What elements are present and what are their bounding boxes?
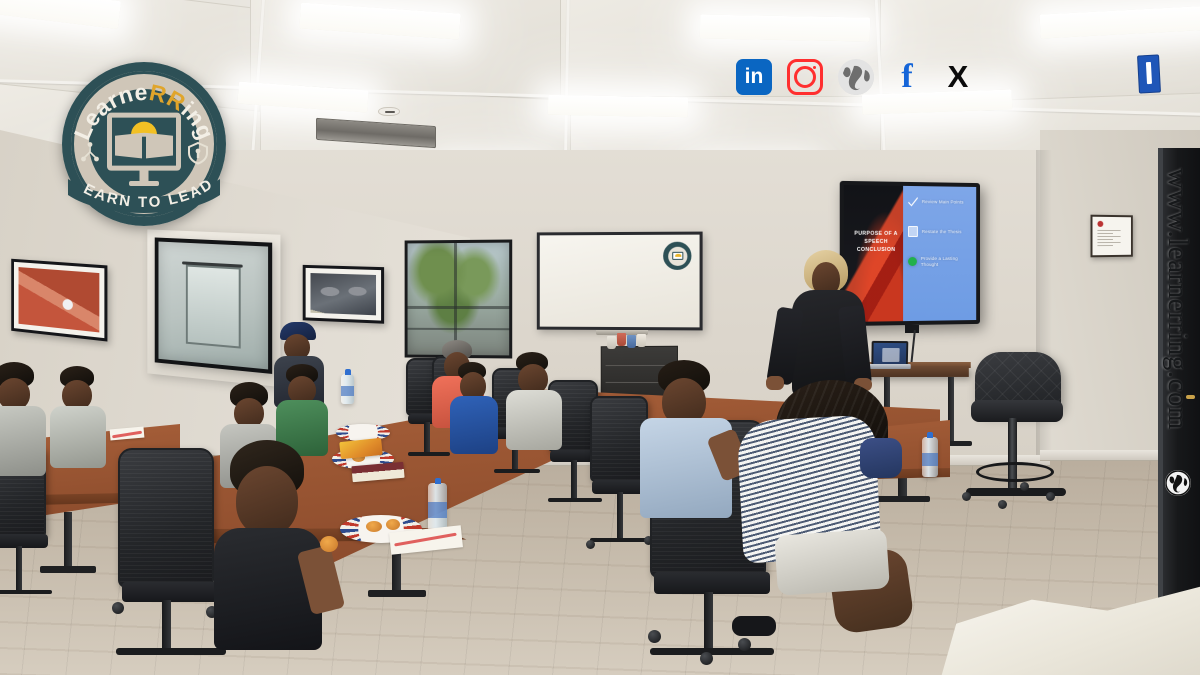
caster bbox=[1046, 492, 1055, 501]
monitor-icon bbox=[107, 113, 181, 171]
table-foot bbox=[40, 566, 96, 573]
caster bbox=[1020, 482, 1029, 491]
slide-bullet-text: Restate the Thesis bbox=[922, 229, 962, 235]
red-biplane-photo bbox=[19, 267, 100, 332]
x-glyph: X bbox=[948, 60, 969, 94]
table-foot bbox=[368, 590, 426, 597]
open-book-icon bbox=[144, 133, 173, 159]
website-url-watermark: www.learnerring.com bbox=[1161, 168, 1194, 430]
learnerring-logo: LearneRRing bbox=[62, 62, 226, 226]
caster bbox=[962, 492, 971, 501]
table-leg bbox=[64, 512, 72, 570]
whiteboard bbox=[537, 232, 703, 331]
slide-bullet: Provide a Lasting Thought bbox=[908, 256, 972, 267]
water-bottle bbox=[428, 483, 447, 531]
instagram-glyph bbox=[787, 59, 823, 95]
classroom-photo-scene: PURPOSE OF A SPEECH CONCLUSION Review Ma… bbox=[0, 0, 1200, 675]
cup bbox=[627, 335, 636, 348]
caster bbox=[586, 540, 595, 549]
facebook-glyph: f bbox=[901, 60, 912, 94]
laptop-keyboard bbox=[867, 364, 911, 369]
document-icon bbox=[908, 226, 918, 237]
osprey-aircraft-photo bbox=[311, 273, 377, 315]
paper-plate bbox=[336, 424, 390, 441]
cup bbox=[607, 336, 616, 349]
linkedin-glyph: in bbox=[736, 59, 772, 95]
caster bbox=[648, 630, 661, 643]
social-icons-bar: in f X bbox=[735, 58, 977, 96]
slide-content-panel: Review Main Points Restate the Thesis Pr… bbox=[903, 186, 976, 321]
caster bbox=[998, 500, 1007, 509]
smoke-detector-icon bbox=[378, 107, 400, 116]
open-book-icon bbox=[115, 133, 144, 159]
cup bbox=[637, 334, 646, 347]
certificate-seal-icon bbox=[1097, 221, 1103, 227]
slide-bullet: Review Main Points bbox=[908, 196, 972, 208]
slide-title: PURPOSE OF A SPEECH CONCLUSION bbox=[850, 230, 902, 255]
shield-icon bbox=[186, 141, 210, 165]
drafting-stool-seat bbox=[971, 400, 1063, 422]
network-node-icon bbox=[78, 141, 102, 165]
caster bbox=[112, 602, 124, 614]
framed-certificate bbox=[1091, 215, 1133, 258]
framed-photo-red-biplane bbox=[11, 259, 107, 342]
tv-mount bbox=[905, 325, 919, 333]
watermark-globe-icon bbox=[1165, 470, 1191, 496]
website-globe-icon[interactable] bbox=[837, 58, 875, 96]
ceiling-light-panel bbox=[548, 95, 688, 117]
water-bottle bbox=[341, 374, 354, 404]
food-item bbox=[366, 521, 382, 532]
caster bbox=[700, 652, 713, 665]
cup bbox=[617, 333, 626, 346]
food-item bbox=[386, 519, 400, 530]
caster bbox=[738, 638, 751, 651]
drafting-stool-footring bbox=[976, 462, 1054, 482]
food-item bbox=[320, 536, 338, 552]
ceiling-sign bbox=[1137, 54, 1161, 93]
student-head bbox=[236, 466, 298, 536]
presenter-hand-left bbox=[766, 376, 784, 390]
table-foot bbox=[874, 496, 930, 502]
slide-bullet-text: Provide a Lasting Thought bbox=[921, 256, 973, 267]
x-twitter-icon[interactable]: X bbox=[939, 58, 977, 96]
framed-photo-osprey bbox=[303, 265, 384, 324]
sandal bbox=[732, 616, 776, 636]
interior-window bbox=[155, 237, 272, 373]
facebook-icon[interactable]: f bbox=[888, 58, 926, 96]
logo-tagline-banner: LEARN TO LEAD bbox=[64, 173, 224, 219]
globe-glyph bbox=[838, 59, 874, 95]
green-dot-icon bbox=[908, 257, 917, 266]
whiteboard-logo-icon bbox=[663, 242, 691, 270]
linkedin-icon[interactable]: in bbox=[735, 58, 773, 96]
slide-bullet: Restate the Thesis bbox=[908, 226, 972, 237]
slide-bullet-text: Review Main Points bbox=[922, 199, 964, 205]
instagram-icon[interactable] bbox=[786, 58, 824, 96]
shorts bbox=[774, 528, 890, 596]
water-bottle bbox=[922, 437, 938, 477]
arm bbox=[860, 438, 902, 478]
check-icon bbox=[908, 196, 918, 207]
ceiling-light-panel bbox=[700, 15, 870, 42]
